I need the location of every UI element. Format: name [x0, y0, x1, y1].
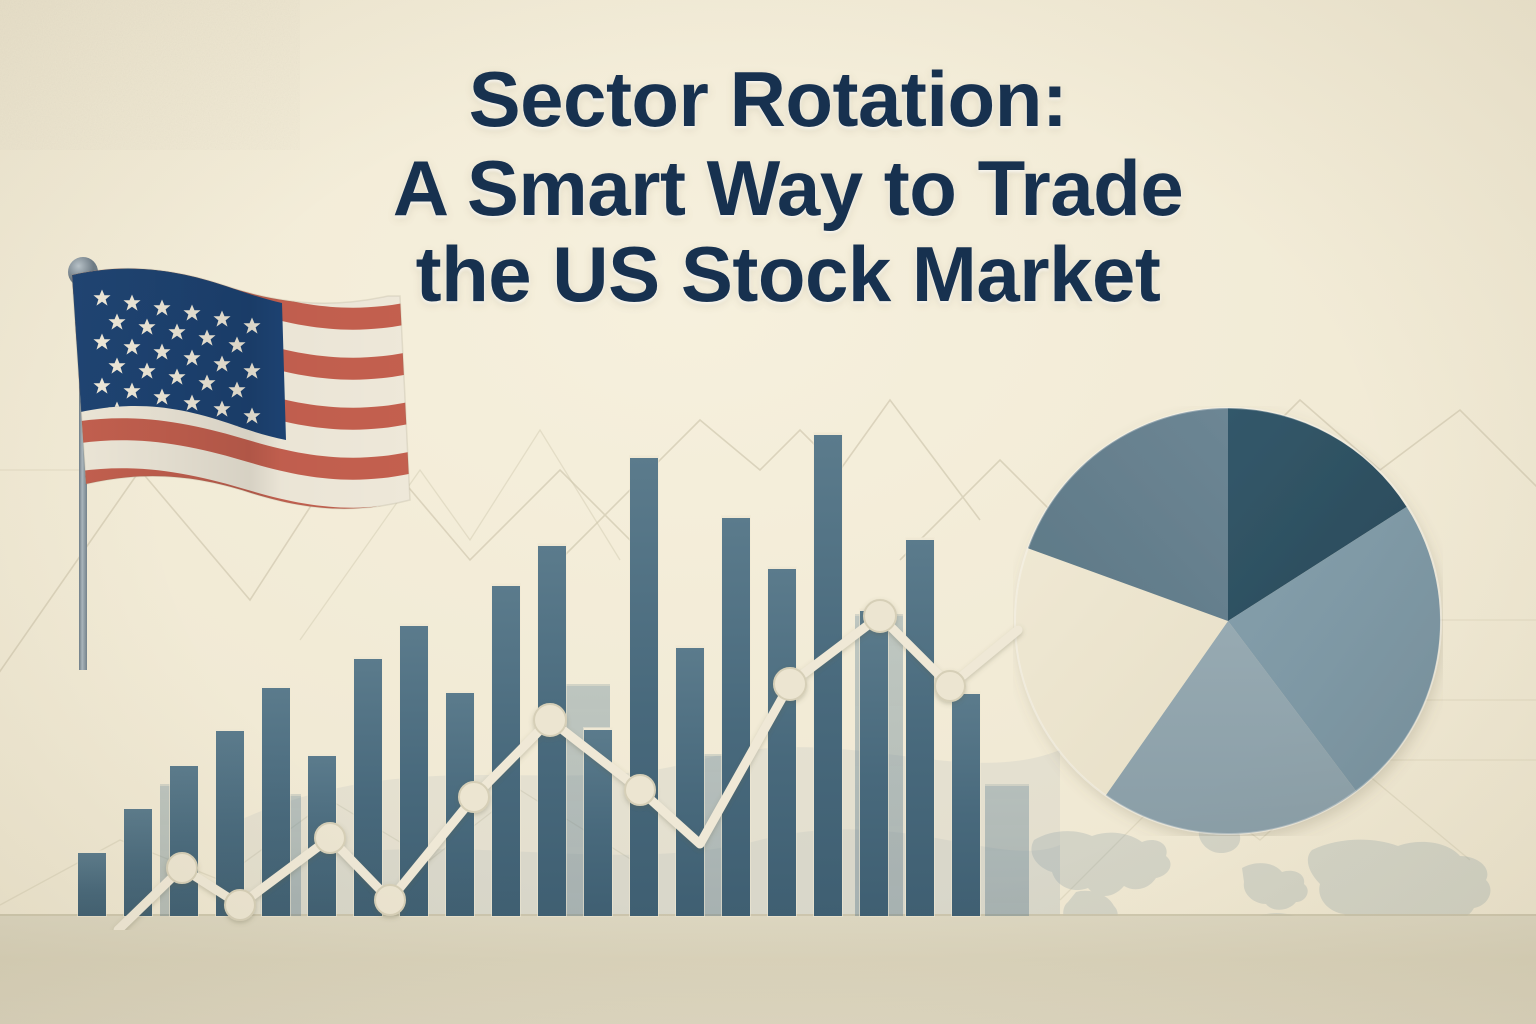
chart-floor: [0, 916, 1536, 1024]
poster-canvas: Sector Rotation: A Smart Way to Trade th…: [0, 0, 1536, 1024]
title-line-1: Sector Rotation:: [0, 58, 1536, 141]
trend-line-path: [118, 616, 1018, 930]
pie-slices: [1015, 408, 1441, 834]
pie-chart: [1013, 406, 1443, 836]
title-line-2: A Smart Way to Trade: [0, 147, 1536, 230]
trend-line-chart: [0, 430, 1050, 930]
paper-grain-overlay: [0, 0, 300, 150]
